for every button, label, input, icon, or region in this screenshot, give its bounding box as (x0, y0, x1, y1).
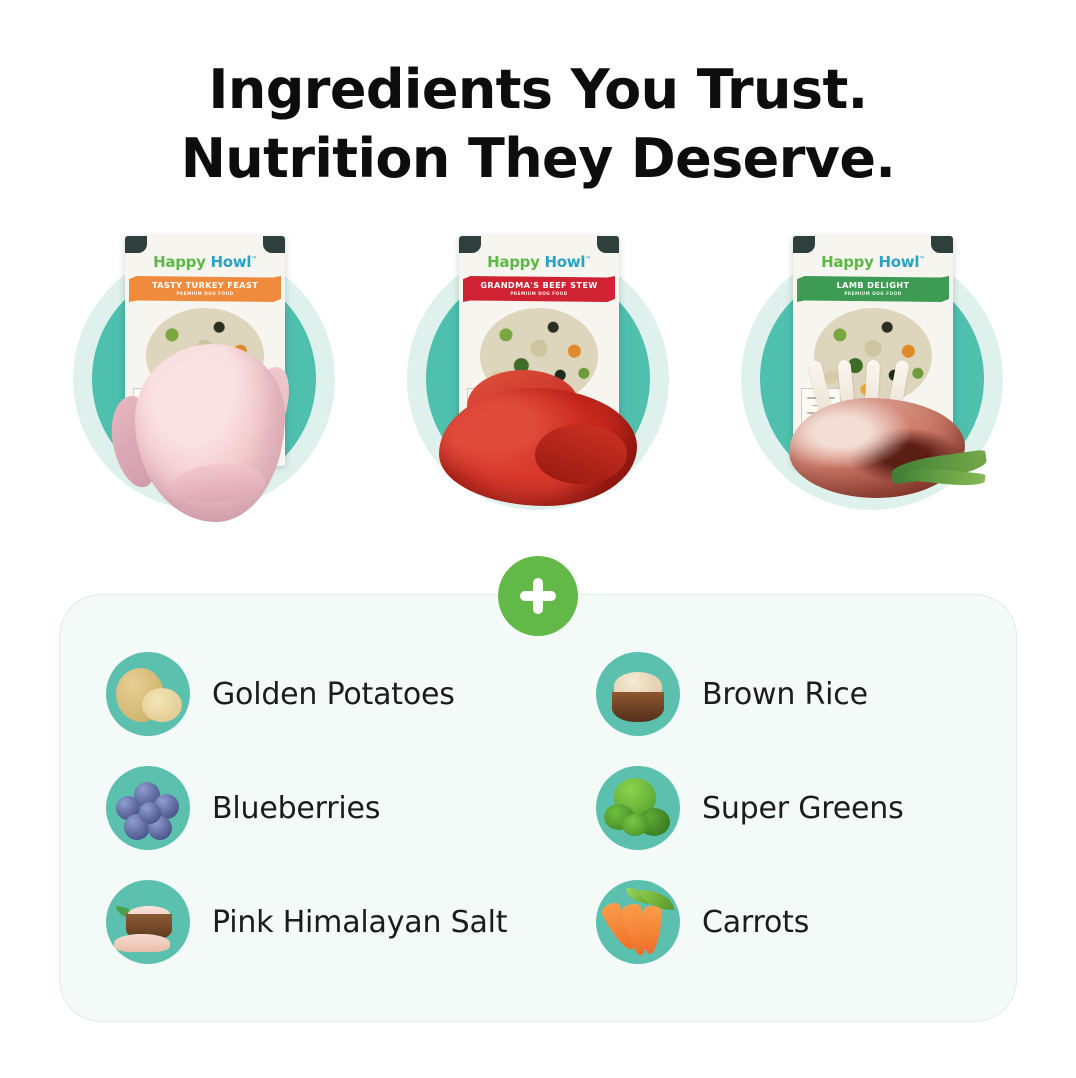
claim-line (478, 420, 497, 421)
ingredient-item-brown-rice[interactable]: Brown Rice (596, 652, 970, 736)
blueberry (139, 802, 161, 824)
brand-word-howl: Howl (879, 253, 920, 271)
package-claims-block (133, 388, 173, 446)
claim-line (478, 405, 497, 406)
package-box-beef: Happy Howl™ GRANDMA'S BEEF STEW PREMIUM … (459, 236, 619, 466)
flavor-banner: LAMB DELIGHT PREMIUM DOG FOOD (797, 276, 949, 302)
flavor-subtitle: PREMIUM DOG FOOD (797, 291, 949, 296)
wooden-bowl (612, 692, 664, 722)
flavor-banner: GRANDMA'S BEEF STEW PREMIUM DOG FOOD (463, 276, 615, 302)
claim-line (144, 435, 163, 436)
flavor-name: TASTY TURKEY FEAST (129, 280, 281, 290)
claim-line (139, 397, 166, 398)
ingredient-label: Blueberries (212, 791, 380, 826)
trademark-symbol: ™ (251, 256, 257, 263)
brand-logo: Happy Howl™ (125, 253, 285, 271)
ingredient-label: Brown Rice (702, 677, 868, 712)
seal-line (910, 444, 941, 445)
brand-word-happy: Happy (821, 253, 873, 271)
kale-leaf (622, 814, 648, 836)
potato-half (142, 688, 182, 722)
ingredient-label: Carrots (702, 905, 809, 940)
flavor-name: LAMB DELIGHT (797, 280, 949, 290)
claim-line (473, 397, 500, 398)
page-title: Ingredients You Trust. Nutrition They De… (0, 56, 1076, 193)
claim-line (812, 420, 831, 421)
claim-line (139, 412, 166, 413)
claim-line (807, 397, 834, 398)
product-row: Happy Howl™ TASTY TURKEY FEAST PREMIUM D… (0, 248, 1076, 528)
seal-line (910, 447, 941, 448)
blueberries-icon (106, 766, 190, 850)
leaf-shape (920, 428, 930, 440)
claim-line (144, 405, 163, 406)
ingredients-card: Golden Potatoes Brown Rice Blu (59, 594, 1017, 1022)
ingredient-item-carrots[interactable]: Carrots (596, 880, 970, 964)
ingredient-item-golden-potatoes[interactable]: Golden Potatoes (106, 652, 596, 736)
brand-logo: Happy Howl™ (459, 253, 619, 271)
salt-pile (114, 934, 170, 952)
flavor-name: GRANDMA'S BEEF STEW (463, 280, 615, 290)
leafy-greens-icon (596, 766, 680, 850)
brand-word-howl: Howl (545, 253, 586, 271)
ingredient-label: Golden Potatoes (212, 677, 455, 712)
headline-line-1: Ingredients You Trust. (208, 58, 867, 121)
brand-word-happy: Happy (487, 253, 539, 271)
claim-line (807, 428, 834, 429)
ingredient-label: Super Greens (702, 791, 904, 826)
flavor-subtitle: PREMIUM DOG FOOD (463, 291, 615, 296)
claim-line (139, 428, 166, 429)
package-claims-block (467, 388, 507, 446)
brand-word-howl: Howl (211, 253, 252, 271)
flavor-banner: TASTY TURKEY FEAST PREMIUM DOG FOOD (129, 276, 281, 302)
brand-logo: Happy Howl™ (793, 253, 953, 271)
claim-line (812, 405, 831, 406)
promo-graphic: Ingredients You Trust. Nutrition They De… (0, 0, 1076, 1078)
headline-line-2: Nutrition They Deserve. (0, 125, 1076, 194)
claim-line (144, 420, 163, 421)
leaf-seal-icon (903, 418, 947, 458)
plus-badge (498, 556, 578, 636)
package-claims-block (801, 388, 841, 446)
product-card-lamb[interactable]: Happy Howl™ LAMB DELIGHT PREMIUM DOG FOO… (741, 248, 1003, 528)
trademark-symbol: ™ (585, 256, 591, 263)
ingredients-grid: Golden Potatoes Brown Rice Blu (60, 595, 1016, 1021)
salt-bowl-icon (106, 880, 190, 964)
ingredient-item-pink-himalayan-salt[interactable]: Pink Himalayan Salt (106, 880, 596, 964)
brand-word-happy: Happy (153, 253, 205, 271)
trademark-symbol: ™ (919, 256, 925, 263)
rice-bowl-icon (596, 652, 680, 736)
claim-line (478, 435, 497, 436)
package-box-turkey: Happy Howl™ TASTY TURKEY FEAST PREMIUM D… (125, 236, 285, 466)
product-card-turkey[interactable]: Happy Howl™ TASTY TURKEY FEAST PREMIUM D… (73, 248, 335, 528)
carrots-icon (596, 880, 680, 964)
potato-icon (106, 652, 190, 736)
claim-line (473, 412, 500, 413)
ingredient-label: Pink Himalayan Salt (212, 905, 507, 940)
flavor-subtitle: PREMIUM DOG FOOD (129, 291, 281, 296)
claim-line (473, 428, 500, 429)
claim-line (812, 435, 831, 436)
ingredient-item-super-greens[interactable]: Super Greens (596, 766, 970, 850)
package-box-lamb: Happy Howl™ LAMB DELIGHT PREMIUM DOG FOO… (793, 236, 953, 466)
plus-icon (533, 578, 543, 614)
claim-line (807, 412, 834, 413)
ingredient-item-blueberries[interactable]: Blueberries (106, 766, 596, 850)
product-card-beef[interactable]: Happy Howl™ GRANDMA'S BEEF STEW PREMIUM … (407, 248, 669, 528)
